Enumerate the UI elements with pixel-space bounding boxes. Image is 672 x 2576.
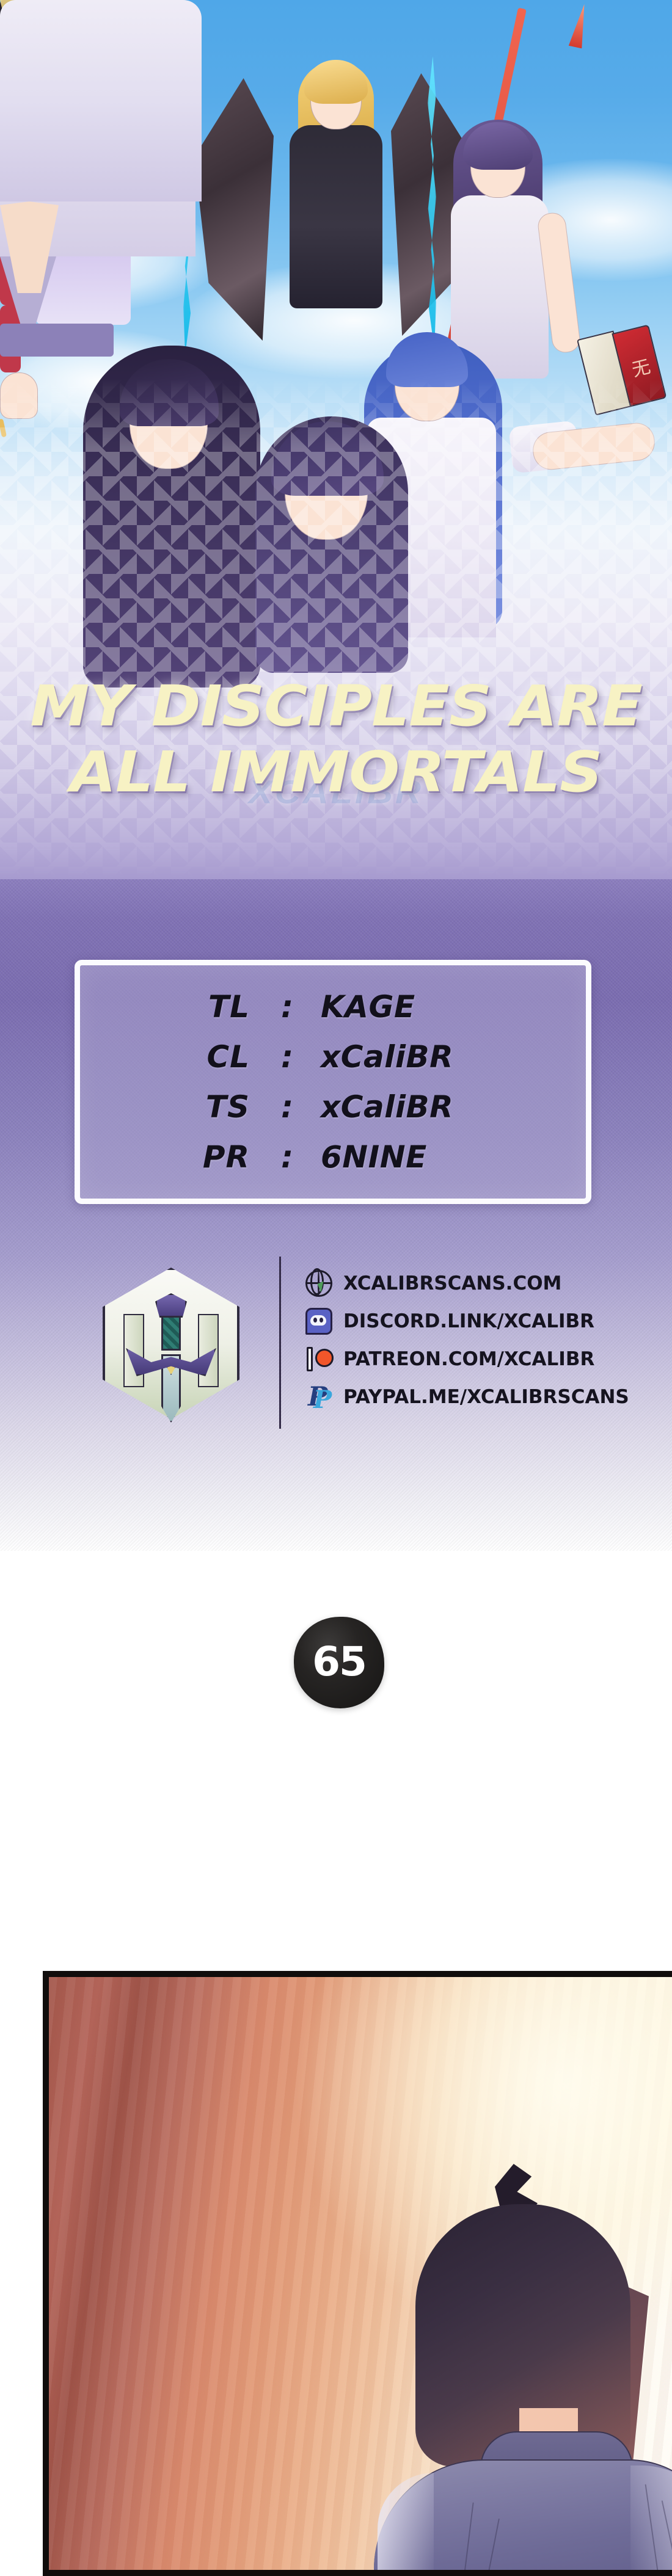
torso (290, 125, 382, 308)
credit-name: xCaliBR (321, 1089, 541, 1125)
social-link-label: PATREON.COM/XCALIBR (343, 1348, 594, 1370)
credit-separator: : (254, 1089, 321, 1125)
credit-separator: : (254, 989, 321, 1025)
credit-name: KAGE (321, 989, 541, 1025)
social-link-website[interactable]: XCALIBRSCANS.COM (305, 1266, 629, 1300)
credit-role: TL (125, 989, 254, 1025)
social-section: XCALIBRSCANS.COM DISCORD.LINK/XCALIBR PA… (0, 1252, 672, 1453)
social-link-discord[interactable]: DISCORD.LINK/XCALIBR (305, 1304, 629, 1338)
credit-name: 6NINE (321, 1139, 541, 1175)
title-line-1: MY DISCIPLES ARE (0, 678, 672, 735)
paypal-icon: P P (305, 1384, 332, 1410)
chest (0, 201, 59, 293)
sword-grip-icon (161, 1313, 181, 1351)
credit-separator: : (254, 1139, 321, 1175)
robe (0, 0, 202, 201)
pillar (123, 1314, 144, 1387)
credit-separator: : (254, 1039, 321, 1075)
chapter-number: 65 (312, 1638, 366, 1685)
credit-role: PR (125, 1139, 254, 1175)
sash (0, 324, 114, 357)
social-link-label: XCALIBRSCANS.COM (343, 1272, 561, 1294)
credit-row: CL : xCaliBR (80, 1032, 586, 1082)
credit-row: TL : KAGE (80, 982, 586, 1032)
social-links-list: XCALIBRSCANS.COM DISCORD.LINK/XCALIBR PA… (305, 1266, 629, 1418)
credit-role: CL (125, 1039, 254, 1075)
patreon-icon (305, 1346, 332, 1373)
page-title: MY DISCIPLES ARE ALL IMMORTALS (0, 678, 672, 801)
comic-panel-1 (43, 1971, 672, 2576)
credit-role: TS (125, 1089, 254, 1125)
credits-list: TL : KAGE CL : xCaliBR TS : xCaliBR PR :… (80, 965, 586, 1199)
social-link-label: PAYPAL.ME/XCALIBRSCANS (343, 1386, 629, 1408)
chapter-page: 无 XCALIBR MY DISCIPLES ARE ALL IMMORTALS (0, 0, 672, 2576)
credits-box: TL : KAGE CL : xCaliBR TS : xCaliBR PR :… (75, 960, 591, 1204)
credit-name: xCaliBR (321, 1039, 541, 1075)
credit-row: TS : xCaliBR (80, 1082, 586, 1132)
social-link-patreon[interactable]: PATREON.COM/XCALIBR (305, 1342, 629, 1376)
social-link-label: DISCORD.LINK/XCALIBR (343, 1310, 594, 1332)
pillar (198, 1314, 219, 1387)
credit-row: PR : 6NINE (80, 1132, 586, 1182)
social-link-paypal[interactable]: P P PAYPAL.ME/XCALIBRSCANS (305, 1380, 629, 1413)
globe-icon (305, 1270, 332, 1297)
vertical-divider (279, 1257, 281, 1429)
character-male-lead (0, 0, 202, 293)
scan-group-logo (89, 1261, 253, 1425)
chapter-number-badge: 65 (294, 1617, 384, 1708)
discord-icon (305, 1308, 332, 1335)
cover-artwork: 无 (0, 0, 672, 965)
title-line-2: ALL IMMORTALS (0, 744, 672, 801)
